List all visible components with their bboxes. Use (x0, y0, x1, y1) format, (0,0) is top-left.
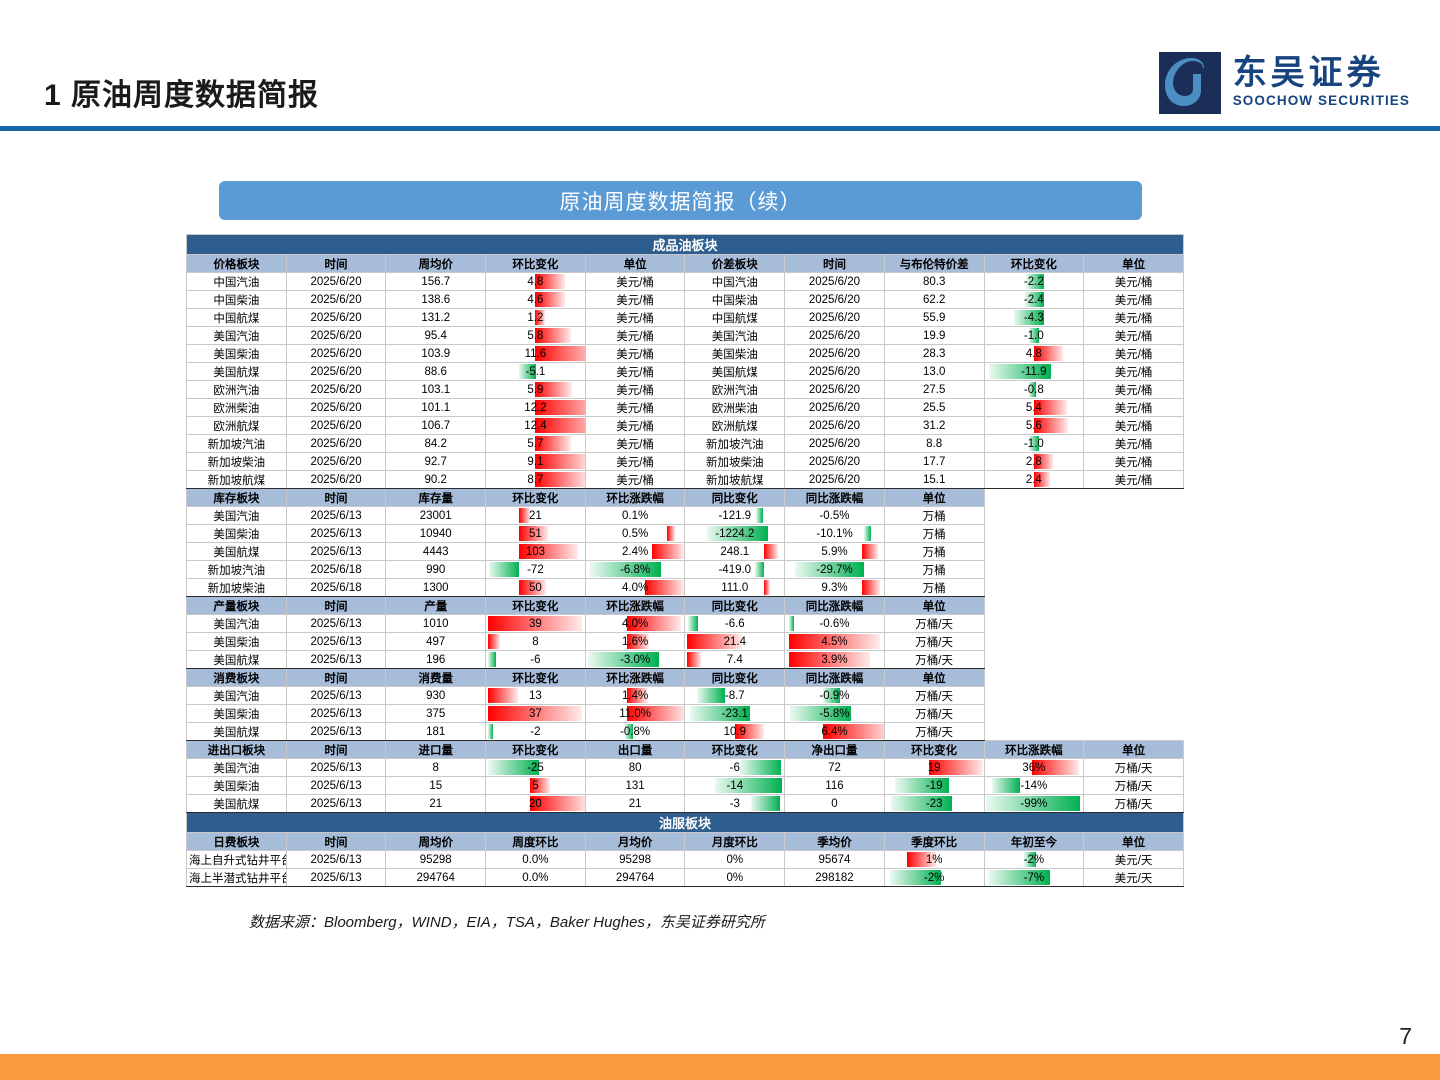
column-header-oilfield-services-8: 年初至今 (984, 833, 1084, 851)
column-header-trade-5: 环比变化 (685, 741, 785, 759)
table-cell: 20 (486, 795, 586, 813)
table-cell: 497 (386, 633, 486, 651)
table-row: 欧洲汽油2025/6/20103.15.9美元/桶欧洲汽油2025/6/2027… (187, 381, 1184, 399)
source-note: 数据来源：Bloomberg，WIND，EIA，TSA，Baker Hughes… (249, 911, 765, 932)
table-cell: 美元/桶 (1084, 309, 1184, 327)
table-cell: 0% (685, 869, 785, 887)
table-cell: -6.8% (585, 561, 685, 579)
table-cell: 美国柴油 (187, 777, 287, 795)
table-cell: -14% (984, 777, 1084, 795)
data-bar (740, 760, 781, 775)
table-cell: 美元/桶 (585, 291, 685, 309)
section-band-refined-products: 成品油板块 (187, 235, 1184, 255)
table-cell: 中国航煤 (187, 309, 287, 327)
table-cell: -6 (685, 759, 785, 777)
table-cell: 51 (486, 525, 586, 543)
table-cell: 美元/天 (1084, 869, 1184, 887)
table-cell: 美元/桶 (1084, 273, 1184, 291)
column-header-inventory-5: 同比变化 (685, 489, 785, 507)
table-cell: 4.8 (486, 273, 586, 291)
chart-title-bar: 原油周度数据简报（续） (219, 181, 1142, 220)
table-cell: 39 (486, 615, 586, 633)
table-row: 美国柴油2025/6/1349781.6%21.44.5%万桶/天 (187, 633, 1184, 651)
table-cell: 21 (386, 795, 486, 813)
table-cell: -1224.2 (685, 525, 785, 543)
column-header-refined-products-2: 周均价 (386, 255, 486, 273)
data-bar (756, 508, 763, 523)
column-header-trade-0: 进出口板块 (187, 741, 287, 759)
column-header-production-6: 同比涨跌幅 (785, 597, 885, 615)
table-cell: -5.1 (486, 363, 586, 381)
column-header-inventory-1: 时间 (286, 489, 386, 507)
table-cell: 中国汽油 (187, 273, 287, 291)
column-header-consumption-6: 同比涨跌幅 (785, 669, 885, 687)
column-header-trade-8: 环比涨跌幅 (984, 741, 1084, 759)
column-header-consumption-1: 时间 (286, 669, 386, 687)
table-cell: 2025/6/20 (785, 399, 885, 417)
data-bar (488, 724, 493, 739)
table-cell: 2025/6/20 (286, 471, 386, 489)
table-cell: -121.9 (685, 507, 785, 525)
table-cell: -1.0 (984, 327, 1084, 345)
column-header-production-7: 单位 (884, 597, 984, 615)
table-cell: 美国航煤 (685, 363, 785, 381)
table-cell: 5 (486, 777, 586, 795)
section-header-oilfield-services: 日费板块时间周均价周度环比月均价月度环比季均价季度环比年初至今单位 (187, 833, 1184, 851)
table-cell: 2025/6/20 (286, 309, 386, 327)
table-cell: 中国汽油 (685, 273, 785, 291)
section-header-consumption: 消费板块时间消费量环比变化环比涨跌幅同比变化同比涨跌幅单位 (187, 669, 1184, 687)
table-cell: 930 (386, 687, 486, 705)
table-cell: -11.9 (984, 363, 1084, 381)
table-row: 美国航煤2025/6/13181-2-0.8%10.96.4%万桶/天 (187, 723, 1184, 741)
table-row: 美国汽油2025/6/2095.45.8美元/桶美国汽油2025/6/2019.… (187, 327, 1184, 345)
table-cell: 21 (486, 507, 586, 525)
table-cell: 17.7 (884, 453, 984, 471)
table-row: 美国柴油2025/6/20103.911.6美元/桶美国柴油2025/6/202… (187, 345, 1184, 363)
table-cell: 美国航煤 (187, 723, 287, 741)
table-cell: 80.3 (884, 273, 984, 291)
data-bar (751, 796, 781, 811)
table-cell: 新加坡柴油 (187, 453, 287, 471)
table-cell: 万桶/天 (884, 651, 984, 669)
table-cell: -7% (984, 869, 1084, 887)
table-cell: 2025/6/13 (286, 507, 386, 525)
crude-weekly-data-table: 成品油板块价格板块时间周均价环比变化单位价差板块时间与布伦特价差环比变化单位中国… (186, 234, 1184, 887)
data-bar (645, 580, 684, 595)
table-cell: 美元/桶 (585, 309, 685, 327)
table-cell: 2025/6/13 (286, 777, 386, 795)
company-logo: 东吴证券 SOOCHOW SECURITIES (1159, 52, 1410, 114)
table-row: 美国汽油2025/6/1323001210.1%-121.9-0.5%万桶 (187, 507, 1184, 525)
section-band-label: 油服板块 (187, 813, 1184, 833)
table-cell: 2025/6/20 (785, 309, 885, 327)
column-header-inventory-2: 库存量 (386, 489, 486, 507)
logo-company-en: SOOCHOW SECURITIES (1233, 92, 1410, 110)
table-row: 美国柴油2025/6/13155131-14116-19-14%万桶/天 (187, 777, 1184, 795)
column-header-production-4: 环比涨跌幅 (585, 597, 685, 615)
table-cell: 9.3% (785, 579, 885, 597)
table-cell: 116 (785, 777, 885, 795)
table-cell: 万桶 (884, 507, 984, 525)
table-cell: 1.2 (486, 309, 586, 327)
column-header-trade-4: 出口量 (585, 741, 685, 759)
table-cell: 31.2 (884, 417, 984, 435)
table-cell: 19 (884, 759, 984, 777)
table-cell: -23.1 (685, 705, 785, 723)
table-cell: 新加坡汽油 (187, 435, 287, 453)
table-cell: -0.6% (785, 615, 885, 633)
table-cell: 156.7 (386, 273, 486, 291)
column-header-trade-6: 净出口量 (785, 741, 885, 759)
table-cell: -0.5% (785, 507, 885, 525)
table-cell: -72 (486, 561, 586, 579)
table-cell: 4.8 (984, 345, 1084, 363)
table-cell: 美国柴油 (187, 705, 287, 723)
table-row: 美国汽油2025/6/131010394.0%-6.6-0.6%万桶/天 (187, 615, 1184, 633)
table-cell: 28.3 (884, 345, 984, 363)
data-bar (864, 526, 871, 541)
data-bar (667, 526, 675, 541)
table-cell: -29.7% (785, 561, 885, 579)
data-bar (488, 688, 518, 703)
table-cell: 50 (486, 579, 586, 597)
table-cell: 0.0% (486, 851, 586, 869)
table-cell: 0 (785, 795, 885, 813)
table-cell: -2.2 (984, 273, 1084, 291)
table-cell: 23001 (386, 507, 486, 525)
table-cell: 2025/6/13 (286, 795, 386, 813)
column-header-refined-products-3: 环比变化 (486, 255, 586, 273)
table-cell: 11.0% (585, 705, 685, 723)
table-cell: 美元/桶 (1084, 327, 1184, 345)
table-cell: 2025/6/20 (785, 273, 885, 291)
table-cell: 美元/桶 (585, 273, 685, 291)
table-cell: 美元/桶 (585, 363, 685, 381)
column-header-refined-products-5: 价差板块 (685, 255, 785, 273)
data-bar (862, 580, 880, 595)
table-cell: 88.6 (386, 363, 486, 381)
table-cell: -99% (984, 795, 1084, 813)
table-cell: 138.6 (386, 291, 486, 309)
column-header-inventory-4: 环比涨跌幅 (585, 489, 685, 507)
table-cell: 95.4 (386, 327, 486, 345)
table-cell: 欧洲柴油 (187, 399, 287, 417)
column-header-consumption-2: 消费量 (386, 669, 486, 687)
table-cell: 80 (585, 759, 685, 777)
table-row: 中国汽油2025/6/20156.74.8美元/桶中国汽油2025/6/2080… (187, 273, 1184, 291)
header-divider (0, 126, 1440, 131)
table-cell: 2025/6/13 (286, 723, 386, 741)
table-cell: 2.4 (984, 471, 1084, 489)
table-cell: 万桶/天 (884, 615, 984, 633)
column-header-oilfield-services-5: 月度环比 (685, 833, 785, 851)
footer-bar (0, 1054, 1440, 1080)
table-cell: 2025/6/13 (286, 651, 386, 669)
table-cell: 海上自升式钻井平台 (187, 851, 287, 869)
section-band-label: 成品油板块 (187, 235, 1184, 255)
table-cell: 2025/6/20 (785, 435, 885, 453)
table-cell: 2025/6/20 (286, 363, 386, 381)
column-header-oilfield-services-7: 季度环比 (884, 833, 984, 851)
table-cell: 美元/桶 (585, 399, 685, 417)
table-cell: -0.8% (585, 723, 685, 741)
column-header-trade-1: 时间 (286, 741, 386, 759)
table-row: 欧洲航煤2025/6/20106.712.4美元/桶欧洲航煤2025/6/203… (187, 417, 1184, 435)
table-cell: 4.0% (585, 579, 685, 597)
data-bar (764, 580, 770, 595)
table-cell: 2025/6/20 (286, 453, 386, 471)
table-cell: 2025/6/13 (286, 615, 386, 633)
table-cell: 3.9% (785, 651, 885, 669)
table-cell: 2025/6/20 (785, 363, 885, 381)
table-cell: 5.9% (785, 543, 885, 561)
table-cell: 298182 (785, 869, 885, 887)
data-bar (992, 778, 1020, 793)
table-cell: 8.8 (884, 435, 984, 453)
table-cell: 2025/6/13 (286, 869, 386, 887)
table-cell: 4.5% (785, 633, 885, 651)
table-cell: 美元/桶 (585, 381, 685, 399)
table-cell: 2025/6/20 (286, 399, 386, 417)
table-cell: 欧洲航煤 (685, 417, 785, 435)
column-header-consumption-3: 环比变化 (486, 669, 586, 687)
table-cell: 990 (386, 561, 486, 579)
table-cell: 21 (585, 795, 685, 813)
page-number: 7 (1399, 1023, 1412, 1050)
table-cell: 美元/桶 (1084, 435, 1184, 453)
table-cell: -8.7 (685, 687, 785, 705)
table-cell: -2 (486, 723, 586, 741)
table-cell: 美元/桶 (1084, 363, 1184, 381)
table-cell: -6 (486, 651, 586, 669)
table-cell: 2025/6/13 (286, 687, 386, 705)
table-cell: 95674 (785, 851, 885, 869)
table-cell: 美国航煤 (187, 651, 287, 669)
table-cell: 21.4 (685, 633, 785, 651)
table-cell: 欧洲柴油 (685, 399, 785, 417)
table-cell: 19.9 (884, 327, 984, 345)
table-cell: 新加坡柴油 (187, 579, 287, 597)
section-header-inventory: 库存板块时间库存量环比变化环比涨跌幅同比变化同比涨跌幅单位 (187, 489, 1184, 507)
data-bar (697, 688, 725, 703)
data-bar (764, 544, 778, 559)
data-bar (755, 562, 765, 577)
table-cell: 2025/6/20 (286, 345, 386, 363)
table-cell: 美国汽油 (187, 327, 287, 345)
table-cell: 111.0 (685, 579, 785, 597)
table-cell: 5.6 (984, 417, 1084, 435)
table-cell: 8 (486, 633, 586, 651)
table-cell: 0.1% (585, 507, 685, 525)
table-cell: 万桶/天 (1084, 759, 1184, 777)
table-cell: 62.2 (884, 291, 984, 309)
data-bar (789, 616, 794, 631)
table-cell: -2.4 (984, 291, 1084, 309)
data-bar (891, 796, 952, 811)
table-row: 美国航煤2025/6/13196-6-3.0%7.43.9%万桶/天 (187, 651, 1184, 669)
column-header-production-0: 产量板块 (187, 597, 287, 615)
table-cell: 万桶/天 (1084, 777, 1184, 795)
table-cell: 1.6% (585, 633, 685, 651)
table-cell: 2025/6/20 (785, 417, 885, 435)
data-bar (862, 544, 878, 559)
table-cell: 2.4% (585, 543, 685, 561)
table-cell: 美元/桶 (585, 453, 685, 471)
table-cell: 2025/6/20 (286, 435, 386, 453)
table-cell: 美元/桶 (1084, 417, 1184, 435)
table-cell: 12.4 (486, 417, 586, 435)
table-cell: 10.9 (685, 723, 785, 741)
table-cell: 27.5 (884, 381, 984, 399)
column-header-inventory-7: 单位 (884, 489, 984, 507)
table-cell: 2025/6/13 (286, 759, 386, 777)
table-cell: -3.0% (585, 651, 685, 669)
data-bar (687, 652, 701, 667)
table-cell: 5.4 (984, 399, 1084, 417)
table-row: 美国柴油2025/6/133753711.0%-23.1-5.8%万桶/天 (187, 705, 1184, 723)
column-header-refined-products-1: 时间 (286, 255, 386, 273)
table-cell: 181 (386, 723, 486, 741)
table-row: 美国汽油2025/6/138-2580-6721936%万桶/天 (187, 759, 1184, 777)
table-cell: -14 (685, 777, 785, 795)
column-header-consumption-0: 消费板块 (187, 669, 287, 687)
table-cell: 131 (585, 777, 685, 795)
column-header-trade-9: 单位 (1084, 741, 1184, 759)
table-cell: 美国航煤 (187, 543, 287, 561)
table-cell: 中国航煤 (685, 309, 785, 327)
table-row: 海上半潜式钻井平台2025/6/132947640.0%2947640%2981… (187, 869, 1184, 887)
table-cell: 美元/桶 (1084, 291, 1184, 309)
table-cell: -2% (884, 869, 984, 887)
column-header-oilfield-services-2: 周均价 (386, 833, 486, 851)
table-cell: 万桶 (884, 579, 984, 597)
table-cell: 万桶 (884, 561, 984, 579)
table-cell: 103.1 (386, 381, 486, 399)
table-cell: 2025/6/20 (286, 417, 386, 435)
logo-company-cn: 东吴证券 (1233, 56, 1410, 92)
table-row: 新加坡航煤2025/6/2090.28.7美元/桶新加坡航煤2025/6/201… (187, 471, 1184, 489)
table-cell: 中国柴油 (187, 291, 287, 309)
table-cell: 103 (486, 543, 586, 561)
table-cell: 2025/6/13 (286, 633, 386, 651)
table-cell: 美国柴油 (187, 525, 287, 543)
table-cell: 9.1 (486, 453, 586, 471)
table-cell: 5.9 (486, 381, 586, 399)
table-cell: 36% (984, 759, 1084, 777)
table-cell: 196 (386, 651, 486, 669)
table-cell: 248.1 (685, 543, 785, 561)
table-cell: 美元/桶 (585, 471, 685, 489)
table-row: 新加坡汽油2025/6/18990-72-6.8%-419.0-29.7%万桶 (187, 561, 1184, 579)
table-cell: 95298 (585, 851, 685, 869)
table-cell: 美元/桶 (1084, 399, 1184, 417)
table-cell: 2025/6/20 (785, 291, 885, 309)
table-cell: 万桶/天 (884, 633, 984, 651)
table-cell: 2025/6/20 (785, 471, 885, 489)
column-header-consumption-4: 环比涨跌幅 (585, 669, 685, 687)
table-cell: 0% (685, 851, 785, 869)
table-cell: 1010 (386, 615, 486, 633)
table-cell: 2.8 (984, 453, 1084, 471)
table-row: 美国柴油2025/6/1310940510.5%-1224.2-10.1%万桶 (187, 525, 1184, 543)
table-cell: 美元/桶 (1084, 471, 1184, 489)
table-cell: 美国航煤 (187, 363, 287, 381)
table-cell: 新加坡汽油 (685, 435, 785, 453)
table-cell: 万桶/天 (884, 723, 984, 741)
table-cell: 2025/6/18 (286, 579, 386, 597)
column-header-oilfield-services-9: 单位 (1084, 833, 1184, 851)
table-cell: -1.0 (984, 435, 1084, 453)
table-cell: 2025/6/18 (286, 561, 386, 579)
table-cell: 375 (386, 705, 486, 723)
table-cell: 欧洲汽油 (187, 381, 287, 399)
table-cell: 新加坡航煤 (685, 471, 785, 489)
table-cell: 万桶 (884, 543, 984, 561)
column-header-refined-products-9: 单位 (1084, 255, 1184, 273)
table-cell: 11.6 (486, 345, 586, 363)
column-header-inventory-3: 环比变化 (486, 489, 586, 507)
table-cell: 13.0 (884, 363, 984, 381)
table-row: 中国航煤2025/6/20131.21.2美元/桶中国航煤2025/6/2055… (187, 309, 1184, 327)
table-cell: -419.0 (685, 561, 785, 579)
table-cell: -0.8 (984, 381, 1084, 399)
table-cell: 2025/6/13 (286, 543, 386, 561)
table-cell: -6.6 (685, 615, 785, 633)
table-cell: 2025/6/13 (286, 705, 386, 723)
section-header-refined-products: 价格板块时间周均价环比变化单位价差板块时间与布伦特价差环比变化单位 (187, 255, 1184, 273)
column-header-oilfield-services-6: 季均价 (785, 833, 885, 851)
table-cell: 10940 (386, 525, 486, 543)
table-cell: 72 (785, 759, 885, 777)
table-cell: 37 (486, 705, 586, 723)
table-cell: 2025/6/20 (286, 273, 386, 291)
table-cell: 8 (386, 759, 486, 777)
table-cell: 7.4 (685, 651, 785, 669)
data-bar (688, 616, 698, 631)
table-cell: 美元/桶 (1084, 381, 1184, 399)
table-cell: 万桶/天 (1084, 795, 1184, 813)
column-header-inventory-0: 库存板块 (187, 489, 287, 507)
table-cell: 美国汽油 (685, 327, 785, 345)
table-cell: -4.3 (984, 309, 1084, 327)
data-bar (652, 544, 685, 559)
column-header-production-1: 时间 (286, 597, 386, 615)
table-cell: 5.7 (486, 435, 586, 453)
table-cell: 294764 (386, 869, 486, 887)
column-header-trade-3: 环比变化 (486, 741, 586, 759)
table-cell: 欧洲航煤 (187, 417, 287, 435)
table-cell: 15.1 (884, 471, 984, 489)
table-cell: 55.9 (884, 309, 984, 327)
table-cell: 美元/桶 (585, 345, 685, 363)
table-cell: 万桶/天 (884, 705, 984, 723)
section-band-oilfield-services: 油服板块 (187, 813, 1184, 833)
table-cell: 1.4% (585, 687, 685, 705)
column-header-refined-products-8: 环比变化 (984, 255, 1084, 273)
table-cell: 美元/桶 (585, 327, 685, 345)
table-cell: 0.5% (585, 525, 685, 543)
table-cell: 美元/天 (1084, 851, 1184, 869)
table-cell: 美元/桶 (585, 417, 685, 435)
table-cell: 新加坡航煤 (187, 471, 287, 489)
table-cell: 美国柴油 (685, 345, 785, 363)
table-cell: -23 (884, 795, 984, 813)
table-cell: 5.8 (486, 327, 586, 345)
table-cell: 美国汽油 (187, 615, 287, 633)
table-cell: 2025/6/20 (286, 291, 386, 309)
table-row: 中国柴油2025/6/20138.64.6美元/桶中国柴油2025/6/2062… (187, 291, 1184, 309)
